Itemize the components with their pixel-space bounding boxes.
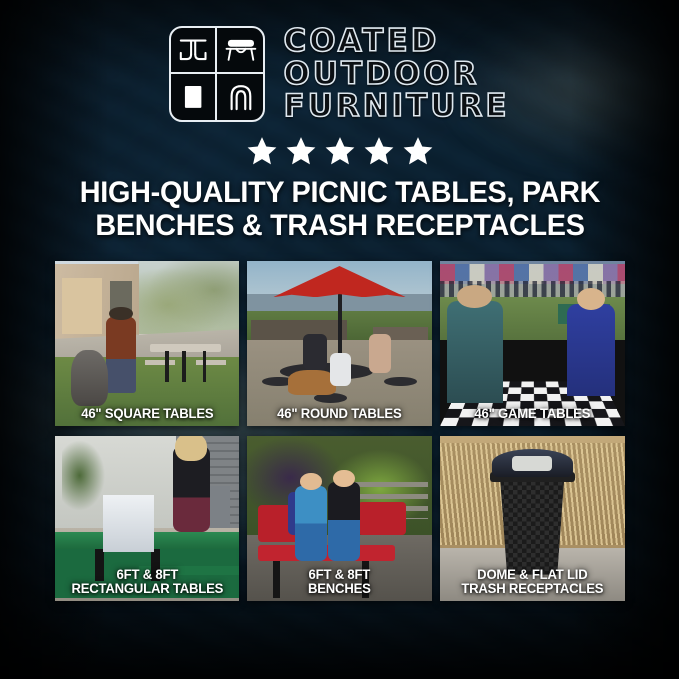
product-photo-square-tables	[55, 261, 240, 426]
bike-rack-icon	[217, 74, 263, 120]
brand-logo: COATED OUTDOOR FURNITURE	[169, 26, 509, 123]
caption-line-2: BENCHES	[254, 582, 425, 597]
logo-icon-grid	[169, 26, 265, 122]
product-caption-benches: 6FT & 8FT BENCHES	[250, 568, 429, 597]
brand-line-2: OUTDOOR	[283, 59, 509, 91]
headline-line-2: BENCHES & TRASH RECEPTACLES	[52, 209, 628, 243]
trash-can-body	[495, 472, 569, 574]
product-caption-trash-receptacles: DOME & FLAT LID TRASH RECEPTACLES	[443, 568, 622, 597]
star-icon-2	[285, 135, 317, 167]
product-tile-trash-receptacles[interactable]: DOME & FLAT LID TRASH RECEPTACLES	[440, 436, 625, 601]
product-caption-square-tables: 46" SQUARE TABLES	[57, 407, 236, 422]
star-icon-5	[402, 135, 434, 167]
star-icon-3	[324, 135, 356, 167]
product-tile-square-tables[interactable]: 46" SQUARE TABLES	[55, 261, 240, 426]
product-caption-round-tables: 46" ROUND TABLES	[250, 407, 429, 422]
star-rating	[246, 135, 434, 167]
brand-line-3: FURNITURE	[283, 91, 509, 123]
poster-content: COATED OUTDOOR FURNITURE HIGH-QUALITY PI…	[0, 0, 679, 679]
product-tile-rectangular-tables[interactable]: 6FT & 8FT RECTANGULAR TABLES	[55, 436, 240, 601]
caption-line-2: RECTANGULAR TABLES	[61, 582, 232, 597]
product-tile-game-tables[interactable]: 46" GAME TABLES	[440, 261, 625, 426]
star-icon-1	[246, 135, 278, 167]
trash-receptacle-icon	[171, 74, 217, 120]
star-icon-4	[363, 135, 395, 167]
product-photo-round-tables	[247, 261, 432, 426]
page-title: HIGH-QUALITY PICNIC TABLES, PARK BENCHES…	[52, 176, 628, 243]
caption-line-1: 46" SQUARE TABLES	[61, 407, 232, 422]
product-tile-benches[interactable]: 6FT & 8FT BENCHES	[247, 436, 432, 601]
caption-line-1: 46" ROUND TABLES	[254, 407, 425, 422]
caption-line-2: TRASH RECEPTACLES	[446, 582, 617, 597]
brand-wordmark: COATED OUTDOOR FURNITURE	[283, 26, 509, 123]
picnic-table-icon	[171, 28, 217, 74]
product-caption-game-tables: 46" GAME TABLES	[443, 407, 622, 422]
product-grid: 46" SQUARE TABLES	[55, 261, 625, 601]
caption-line-1: 6FT & 8FT	[254, 568, 425, 583]
product-caption-rectangular-tables: 6FT & 8FT RECTANGULAR TABLES	[57, 568, 236, 597]
caption-line-1: 46" GAME TABLES	[446, 407, 617, 422]
headline-line-1: HIGH-QUALITY PICNIC TABLES, PARK	[52, 176, 628, 210]
caption-line-1: 6FT & 8FT	[61, 568, 232, 583]
product-photo-game-tables	[440, 261, 625, 426]
bench-icon	[217, 28, 263, 74]
product-tile-round-tables[interactable]: 46" ROUND TABLES	[247, 261, 432, 426]
caption-line-1: DOME & FLAT LID	[446, 568, 617, 583]
brand-line-1: COATED	[283, 26, 509, 58]
